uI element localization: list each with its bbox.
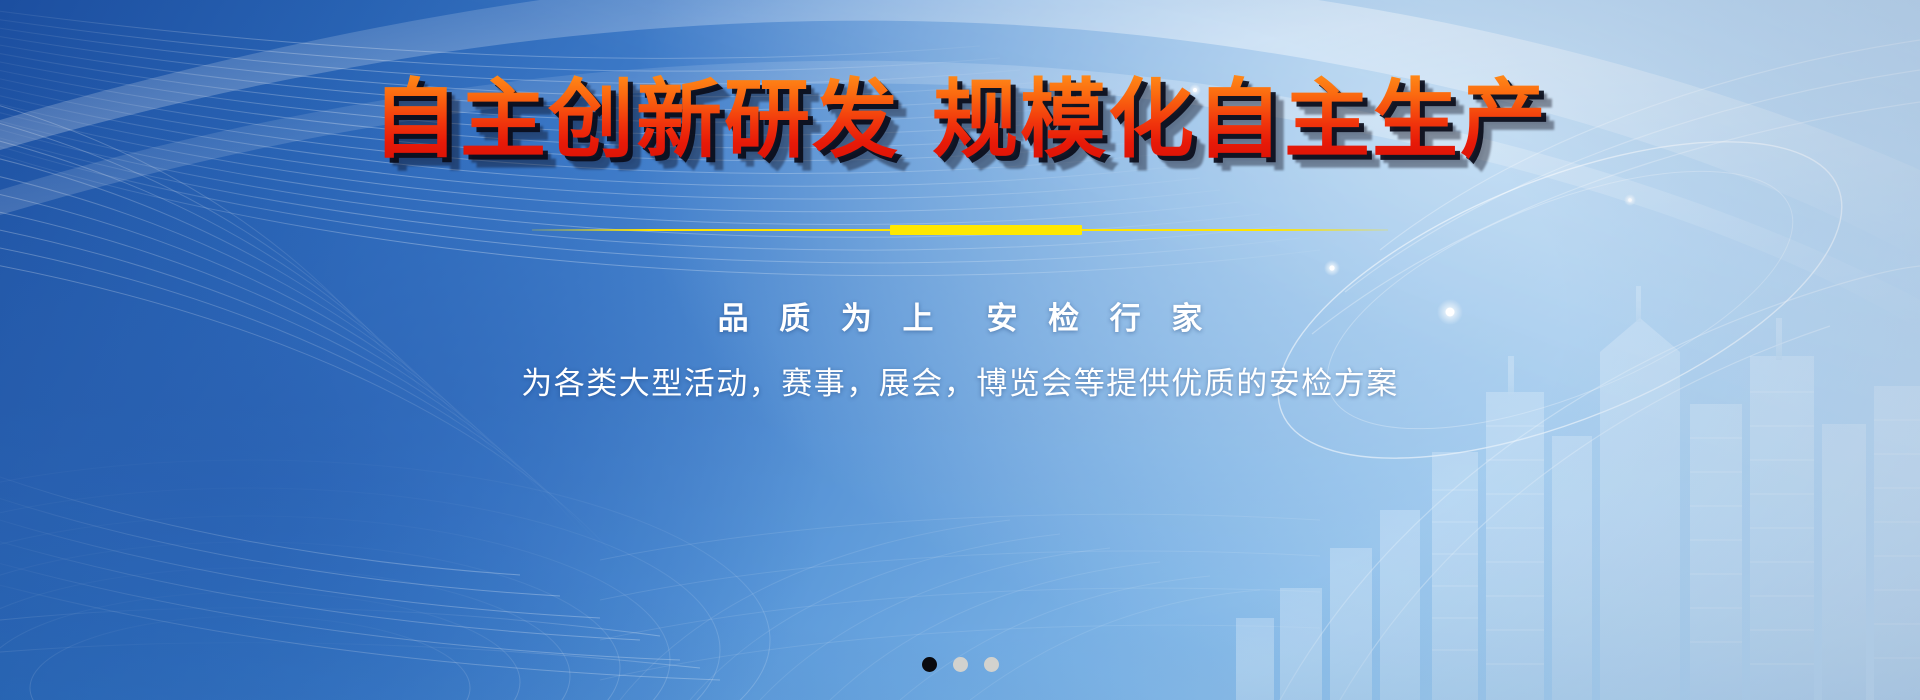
carousel-dots[interactable] — [0, 657, 1920, 672]
banner-subtagline: 为各类大型活动，赛事，展会，博览会等提供优质的安检方案 — [521, 358, 1399, 403]
carousel-dot-3[interactable] — [984, 657, 999, 672]
hero-banner: 自主创新研发 规模化自主生产 品 质 为 上 安 检 行 家 为各类大型活动，赛… — [0, 0, 1920, 700]
banner-headline: 自主创新研发 规模化自主生产 — [372, 74, 1548, 167]
carousel-dot-2[interactable] — [953, 657, 968, 672]
banner-content: 自主创新研发 规模化自主生产 品 质 为 上 安 检 行 家 为各类大型活动，赛… — [0, 0, 1920, 700]
banner-tagline: 品 质 为 上 安 检 行 家 — [707, 293, 1214, 338]
divider-thick-segment — [890, 225, 1082, 235]
divider — [532, 225, 1388, 235]
carousel-dot-1[interactable] — [922, 657, 937, 672]
